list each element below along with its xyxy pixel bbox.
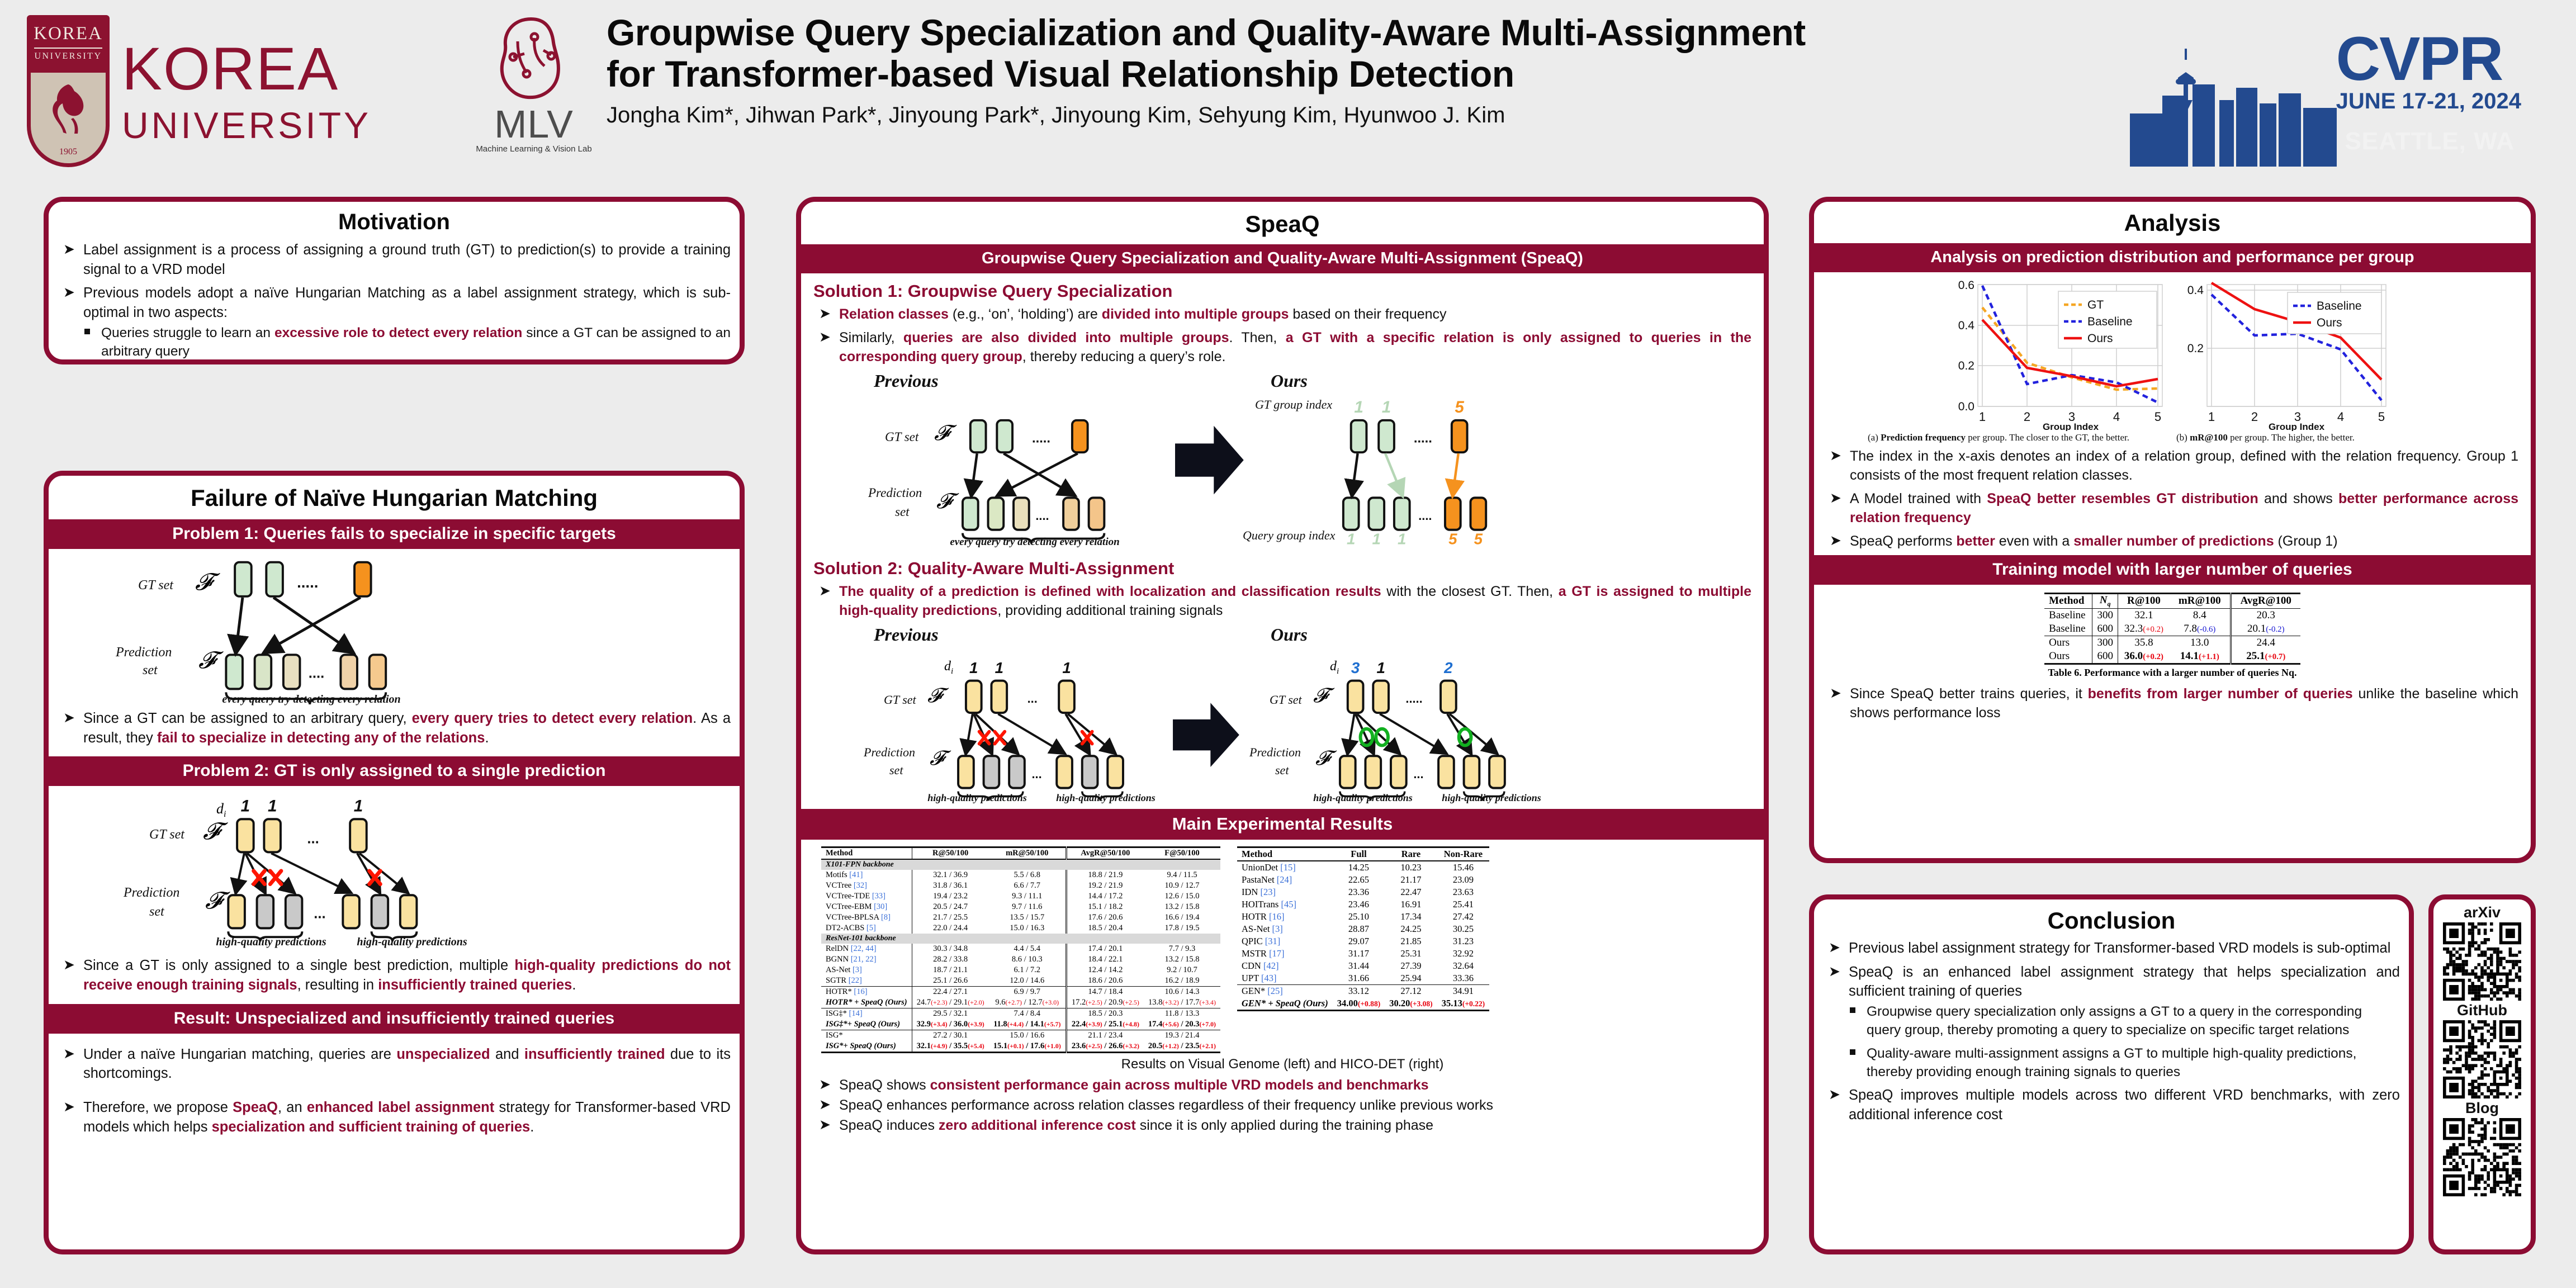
solution2-caption-prev-right: high-quality predictions: [1036, 792, 1176, 804]
svg-text:1: 1: [995, 659, 1003, 676]
svg-text:1: 1: [969, 659, 978, 676]
cvpr-logo: CVPR JUNE 17-21, 2024 SEATTLE, WA: [2130, 9, 2544, 177]
table-group-row: X101-FPN backbone: [821, 859, 1220, 870]
table-row: ISG* 27.2 / 30.115.0 / 16.621.1 / 23.419…: [821, 1030, 1220, 1041]
svg-text:1: 1: [2208, 410, 2215, 424]
table-row: HOTR* + SpeaQ (Ours) 24.7(+2.3) / 29.1(+…: [821, 997, 1220, 1008]
problem2-text: ➤Since a GT is only assigned to a single…: [58, 956, 731, 995]
table-row: AS-Net [3]28.8724.2530.25: [1237, 923, 1489, 935]
list-item: ➤A Model trained with SpeaQ better resem…: [1824, 489, 2518, 527]
solution1-caption: every query try detecting every relation: [925, 536, 1144, 548]
motivation-card: Motivation ➤Label assignment is a proces…: [44, 197, 745, 364]
list-item: ➤Since a GT can be assigned to an arbitr…: [58, 709, 731, 747]
table-group-row: ResNet-101 backbone: [821, 934, 1220, 944]
svg-text:0.0: 0.0: [1958, 400, 1974, 413]
qr-links-card: arXivGitHubBlog: [2428, 894, 2536, 1254]
list-item: ➤Since a GT is only assigned to a single…: [58, 956, 731, 995]
svg-text:0.4: 0.4: [1958, 319, 1975, 332]
results-band: Main Experimental Results: [801, 809, 1764, 840]
conclusion-card: Conclusion ➤Previous label assignment st…: [1809, 894, 2414, 1254]
table-row: HOTR* [16]22.4 / 27.16.9 / 9.714.7 / 18.…: [821, 987, 1220, 998]
prediction-frequency-chart: 0.0 0.2 0.4 0.6 1 2 3 4 5 Group Index G: [1949, 280, 2172, 431]
shield-year: 1905: [27, 147, 110, 157]
table-row: UnionDet [15]14.2510.2315.46: [1237, 861, 1489, 874]
svg-text:5: 5: [2378, 410, 2385, 424]
poster-root: KOREA UNIVERSITY 1905 KOREA UNIVERSITY: [0, 0, 2576, 1288]
chart-a-caption: (a) Prediction frequency per group. The …: [1868, 432, 2168, 443]
results-tables: Method R@50/100 mR@50/100 AvgR@50/100 F@…: [801, 840, 1764, 1053]
problem2-diagram: GT set 𝓕 Prediction set 𝓕 di 1 1 1 ...: [49, 786, 740, 947]
paper-authors: Jongha Kim*, Jihwan Park*, Jinyoung Park…: [607, 103, 2110, 128]
seattle-skyline-icon: [2130, 46, 2370, 167]
table-row: CDN [42]31.4427.3932.64: [1237, 960, 1489, 972]
svg-text:2: 2: [1443, 659, 1453, 676]
solution2-caption-ours-right: high-quality predictions: [1422, 792, 1561, 804]
paper-title-line1: Groupwise Query Specialization and Quali…: [607, 12, 2110, 54]
table-row: VCTree [32]31.8 / 36.16.6 / 7.719.2 / 21…: [821, 880, 1220, 891]
analysis-band: Analysis on prediction distribution and …: [1814, 243, 2531, 272]
svg-text:1: 1: [1062, 659, 1071, 676]
table-row: GEN* + SpeaQ (Ours) 34.00(+0.88)30.20(+3…: [1237, 997, 1489, 1011]
queries-table-wrap: Method Nq R@100 mR@100 AvgR@100 Baseline…: [1814, 585, 2531, 665]
table-row: RelDN [22, 44]30.3 / 34.84.4 / 5.417.4 /…: [821, 944, 1220, 954]
speaq-band: Groupwise Query Specialization and Quali…: [801, 244, 1764, 273]
korea-university-wordmark: KOREA UNIVERSITY: [122, 39, 371, 144]
table-row: Baseline60032.3(+0.2)7.8(-0.6)20.1(-0.2): [2044, 622, 2300, 636]
mlv-wordmark: MLV: [470, 106, 598, 143]
problem1-svg: ..... ....: [49, 549, 740, 707]
svg-text:5: 5: [2154, 410, 2161, 424]
motivation-bullets: ➤Label assignment is a process of assign…: [58, 240, 731, 323]
list-item: Groupwise query specialization only assi…: [1842, 1002, 2400, 1040]
svg-text:4: 4: [2337, 410, 2344, 424]
svg-text:0.6: 0.6: [1958, 280, 1974, 292]
table-header-row: Method R@50/100 mR@50/100 AvgR@50/100 F@…: [821, 847, 1220, 860]
list-item: ➤SpeaQ improves multiple models across t…: [1823, 1086, 2400, 1124]
solution1-title: Solution 1: Groupwise Query Specializati…: [813, 281, 1751, 301]
list-item: Quality-aware multi-assignment assigns a…: [1842, 1044, 2400, 1082]
list-item: ➤Since SpeaQ better trains queries, it b…: [1824, 684, 2518, 722]
svg-text:1: 1: [354, 797, 363, 816]
problem2-caption-right: high-quality predictions: [339, 936, 485, 949]
svg-text:2: 2: [2251, 410, 2258, 424]
cvpr-name: CVPR: [2336, 31, 2521, 87]
svg-text:1: 1: [1398, 530, 1406, 547]
mlv-lab-logo: MLV Machine Learning & Vision Lab: [470, 12, 598, 174]
svg-text:Baseline: Baseline: [2087, 315, 2133, 328]
svg-text:0.2: 0.2: [1958, 359, 1974, 372]
table-header-row: Method Full Rare Non-Rare: [1237, 847, 1489, 861]
svg-text:1: 1: [1347, 530, 1355, 547]
svg-text:....: ....: [309, 666, 324, 681]
table-row: VCTree-EBM [30]20.5 / 24.79.7 / 11.615.1…: [821, 902, 1220, 912]
table-row: VCTree-TDE [33]19.4 / 23.29.3 / 11.114.4…: [821, 891, 1220, 902]
conclusion-sub-bullets: Groupwise query specialization only assi…: [1842, 1002, 2400, 1081]
svg-text:3: 3: [1351, 659, 1360, 676]
svg-text:....: ....: [1418, 509, 1432, 523]
table-row: Ours30035.813.024.4: [2044, 636, 2300, 650]
svg-text:1: 1: [1354, 398, 1363, 416]
conclusion-bullets: ➤Previous label assignment strategy for …: [1823, 939, 2400, 1001]
motivation-title: Motivation: [49, 202, 740, 240]
table-row: ISG‡*+ SpeaQ (Ours) 32.9(+3.4) / 36.0(+3…: [821, 1019, 1220, 1030]
list-item: ➤SpeaQ shows consistent performance gain…: [813, 1076, 1751, 1095]
problem1-text: ➤Since a GT can be assigned to an arbitr…: [58, 709, 731, 747]
table-row: HOITrans [45]23.4616.9125.41: [1237, 898, 1489, 911]
table-row: HOTR [16]25.1017.3427.42: [1237, 911, 1489, 923]
qr-code-github-icon[interactable]: [2443, 1020, 2521, 1098]
svg-text:...: ...: [1032, 767, 1042, 781]
problem2-caption-left: high-quality predictions: [198, 936, 344, 949]
chart-captions: (a) Prediction frequency per group. The …: [1814, 431, 2531, 443]
poster-header: KOREA UNIVERSITY 1905 KOREA UNIVERSITY: [0, 0, 2576, 190]
solution2-title: Solution 2: Quality-Aware Multi-Assignme…: [813, 558, 1751, 579]
analysis-charts: 0.0 0.2 0.4 0.6 1 2 3 4 5 Group Index G: [1814, 272, 2531, 431]
svg-text:Ours: Ours: [2087, 332, 2113, 345]
svg-text:1: 1: [1979, 410, 1986, 424]
table-row: QPIC [31]29.0721.8531.23: [1237, 935, 1489, 948]
solution2-bullets: ➤The quality of a prediction is defined …: [813, 582, 1751, 620]
problem2-band: Problem 2: GT is only assigned to a sing…: [49, 756, 740, 786]
list-item: ➤Relation classes (e.g., ‘on’, ‘holding’…: [813, 305, 1751, 324]
qr-label-blog: Blog: [2433, 1100, 2531, 1117]
svg-text:5: 5: [1448, 530, 1457, 547]
svg-text:...: ...: [307, 831, 319, 847]
list-item: Queries struggle to learn an excessive r…: [77, 324, 731, 361]
svg-text:1: 1: [1376, 659, 1385, 676]
table-row: Baseline30032.18.420.3: [2044, 608, 2300, 622]
table-row: VCTree-BPLSA [8]21.7 / 25.513.5 / 15.717…: [821, 912, 1220, 923]
analysis-card: Analysis Analysis on prediction distribu…: [1809, 197, 2536, 863]
tiger-icon: [46, 82, 90, 136]
list-item: ➤Under a naïve Hungarian matching, queri…: [58, 1045, 731, 1083]
svg-text:5: 5: [1474, 530, 1483, 547]
list-item: ➤Therefore, we propose SpeaQ, an enhance…: [58, 1098, 731, 1137]
conclusion-last-bullet: ➤SpeaQ improves multiple models across t…: [1823, 1086, 2400, 1124]
list-item: ➤Previous label assignment strategy for …: [1823, 939, 2400, 958]
svg-text:Baseline: Baseline: [2317, 300, 2362, 312]
svg-text:Group Index: Group Index: [2269, 422, 2325, 431]
table-row: SGTR [22]25.1 / 26.612.0 / 14.618.6 / 20…: [821, 976, 1220, 987]
svg-text:1: 1: [268, 797, 277, 816]
table-row: ISG‡* [14]29.5 / 32.17.4 / 8.418.5 / 20.…: [821, 1008, 1220, 1020]
korea-university-logo: KOREA UNIVERSITY 1905 KOREA UNIVERSITY: [27, 10, 468, 172]
motivation-sub-bullets: Queries struggle to learn an excessive r…: [77, 324, 731, 364]
svg-text:.....: .....: [1032, 430, 1050, 446]
list-item: ➤SpeaQ performs better even with a small…: [1824, 532, 2518, 551]
conclusion-title: Conclusion: [1814, 899, 2409, 939]
table-header-row: Method Nq R@100 mR@100 AvgR@100: [2044, 594, 2300, 609]
speaq-card: SpeaQ Groupwise Query Specialization and…: [796, 197, 1769, 1254]
solution2-diagram: Previous Ours GT set 𝓕 Prediction set 𝓕 …: [801, 624, 1764, 807]
svg-text:1: 1: [1372, 530, 1381, 547]
solution1-diagram: Previous Ours GT set 𝓕 Prediction set 𝓕 …: [801, 371, 1764, 555]
svg-text:GT: GT: [2087, 299, 2104, 311]
svg-text:4: 4: [2113, 410, 2120, 424]
table-row: DT2-ACBS [5]22.0 / 24.415.0 / 16.318.5 /…: [821, 923, 1220, 934]
solution2-caption-prev-left: high-quality predictions: [907, 792, 1047, 804]
svg-text:.....: .....: [1414, 430, 1432, 446]
queries-table-caption: Table 6. Performance with a larger numbe…: [1814, 667, 2531, 679]
svg-text:...: ...: [1413, 767, 1423, 781]
results-caption: Results on Visual Genome (left) and HICO…: [801, 1057, 1764, 1072]
svg-text:....: ....: [1035, 509, 1049, 523]
list-item: ➤SpeaQ induces zero additional inference…: [813, 1116, 1751, 1135]
paper-title: Groupwise Query Specialization and Quali…: [607, 12, 2110, 95]
hico-table-wrap: Method Full Rare Non-Rare UnionDet [15]1…: [1237, 846, 1489, 1011]
svg-text:1: 1: [1382, 398, 1391, 416]
queries-band: Training model with larger number of que…: [1814, 555, 2531, 585]
cvpr-dates: JUNE 17-21, 2024: [2336, 89, 2521, 114]
analysis-bullets: ➤The index in the x-axis denotes an inde…: [1824, 447, 2518, 551]
table-row: IDN [23]23.3622.4723.63: [1237, 886, 1489, 898]
svg-text:Ours: Ours: [2317, 316, 2342, 329]
problem1-diagram: GT set 𝓕 Prediction set 𝓕 ..... ....: [49, 549, 740, 707]
speaq-title: SpeaQ: [801, 202, 1764, 244]
qr-label-github: GitHub: [2433, 1002, 2531, 1019]
qr-code-blog-icon[interactable]: [2443, 1118, 2521, 1196]
table-row: ISG*+ SpeaQ (Ours) 32.1(+4.9) / 35.5(+5.…: [821, 1041, 1220, 1053]
result-bullets: ➤Under a naïve Hungarian matching, queri…: [58, 1045, 731, 1137]
problem2-svg: 1 1 1 ... ...: [49, 786, 740, 947]
table-row: UPT [43]31.6625.9433.36: [1237, 972, 1489, 985]
visual-genome-table: Method R@50/100 mR@50/100 AvgR@50/100 F@…: [821, 846, 1220, 1053]
hico-det-table: Method Full Rare Non-Rare UnionDet [15]1…: [1237, 846, 1489, 1011]
mlv-subtitle: Machine Learning & Vision Lab: [470, 144, 598, 154]
queries-bullet: ➤Since SpeaQ better trains queries, it b…: [1824, 684, 2518, 722]
svg-text:...: ...: [314, 906, 325, 922]
list-item: ➤The index in the x-axis denotes an inde…: [1824, 447, 2518, 485]
ku-word-line1: KOREA: [122, 39, 371, 99]
list-item: ➤SpeaQ enhances performance across relat…: [813, 1096, 1751, 1115]
list-item: ➤Similarly, queries are also divided int…: [813, 328, 1751, 366]
mr100-per-group-chart: 0.2 0.4 1 2 3 4 5 Group Index Baseline O…: [2178, 280, 2396, 431]
failure-card: Failure of Naïve Hungarian Matching Prob…: [44, 471, 745, 1254]
table-row: GEN* [25]33.1227.1234.91: [1237, 985, 1489, 998]
list-item: ➤The quality of a prediction is defined …: [813, 582, 1751, 620]
table-row: Motifs [41]32.1 / 36.95.5 / 6.818.8 / 21…: [821, 870, 1220, 880]
svg-text:5: 5: [1455, 398, 1464, 416]
solution2-svg: 1 1 1 ... ...: [801, 624, 1764, 807]
queries-table: Method Nq R@100 mR@100 AvgR@100 Baseline…: [2044, 593, 2300, 665]
table-row: Ours60036.0(+0.2)14.1(+1.1)25.1(+0.7): [2044, 650, 2300, 664]
analysis-title: Analysis: [1814, 202, 2531, 243]
result-band: Result: Unspecialized and insufficiently…: [49, 1004, 740, 1034]
problem1-diagram-caption: every query try detecting every relation: [177, 693, 446, 706]
svg-text:Group Index: Group Index: [2043, 422, 2099, 431]
svg-text:.....: .....: [1405, 692, 1422, 705]
cvpr-city: SEATTLE, WA: [2345, 127, 2515, 155]
table-row: PastaNet [24]22.6521.1723.09: [1237, 874, 1489, 886]
ku-word-line2: UNIVERSITY: [122, 107, 371, 144]
svg-text:0.4: 0.4: [2187, 284, 2204, 297]
title-block: Groupwise Query Specialization and Quali…: [607, 12, 2110, 128]
qr-code-arxiv-icon[interactable]: [2443, 922, 2521, 1001]
mlv-brain-icon: [492, 12, 576, 107]
problem1-band: Problem 1: Queries fails to specialize i…: [49, 519, 740, 549]
shield-sub-text: UNIVERSITY: [34, 48, 102, 61]
svg-text:1: 1: [241, 797, 250, 816]
paper-title-line2: for Transformer-based Visual Relationshi…: [607, 54, 2110, 95]
korea-university-shield-icon: KOREA UNIVERSITY 1905: [27, 15, 110, 167]
solution1-bullets: ➤Relation classes (e.g., ‘on’, ‘holding’…: [813, 305, 1751, 366]
list-item: ➤SpeaQ is an enhanced label assignment s…: [1823, 963, 2400, 1001]
qr-label-arxiv: arXiv: [2433, 904, 2531, 921]
svg-text:.....: .....: [297, 574, 318, 591]
solution2-caption-ours-left: high-quality predictions: [1293, 792, 1433, 804]
table-row: AS-Net [3]18.7 / 21.16.1 / 7.212.4 / 14.…: [821, 965, 1220, 976]
speaq-bottom-bullets: ➤SpeaQ shows consistent performance gain…: [813, 1076, 1751, 1135]
cvpr-text-block: CVPR JUNE 17-21, 2024: [2336, 31, 2521, 114]
chart-b-caption: (b) mR@100 per group. The higher, the be…: [2176, 432, 2477, 443]
nq-header: Nq: [2092, 594, 2118, 609]
svg-text:0.2: 0.2: [2187, 342, 2204, 355]
list-item: ➤Label assignment is a process of assign…: [58, 240, 731, 279]
vg-table-wrap: Method R@50/100 mR@50/100 AvgR@50/100 F@…: [821, 846, 1220, 1053]
shield-top-text: KOREA: [31, 23, 106, 44]
list-item: ➤Previous models adopt a naïve Hungarian…: [58, 283, 731, 322]
table-row: BGNN [21, 22]28.2 / 33.88.6 / 10.318.4 /…: [821, 954, 1220, 965]
failure-title: Failure of Naïve Hungarian Matching: [49, 476, 740, 519]
svg-text:2: 2: [2024, 410, 2030, 424]
svg-text:...: ...: [1027, 692, 1038, 705]
table-row: MSTR [17]31.1725.3132.92: [1237, 948, 1489, 960]
solution1-svg: ..... .... 1 1 5 .....: [801, 371, 1764, 555]
